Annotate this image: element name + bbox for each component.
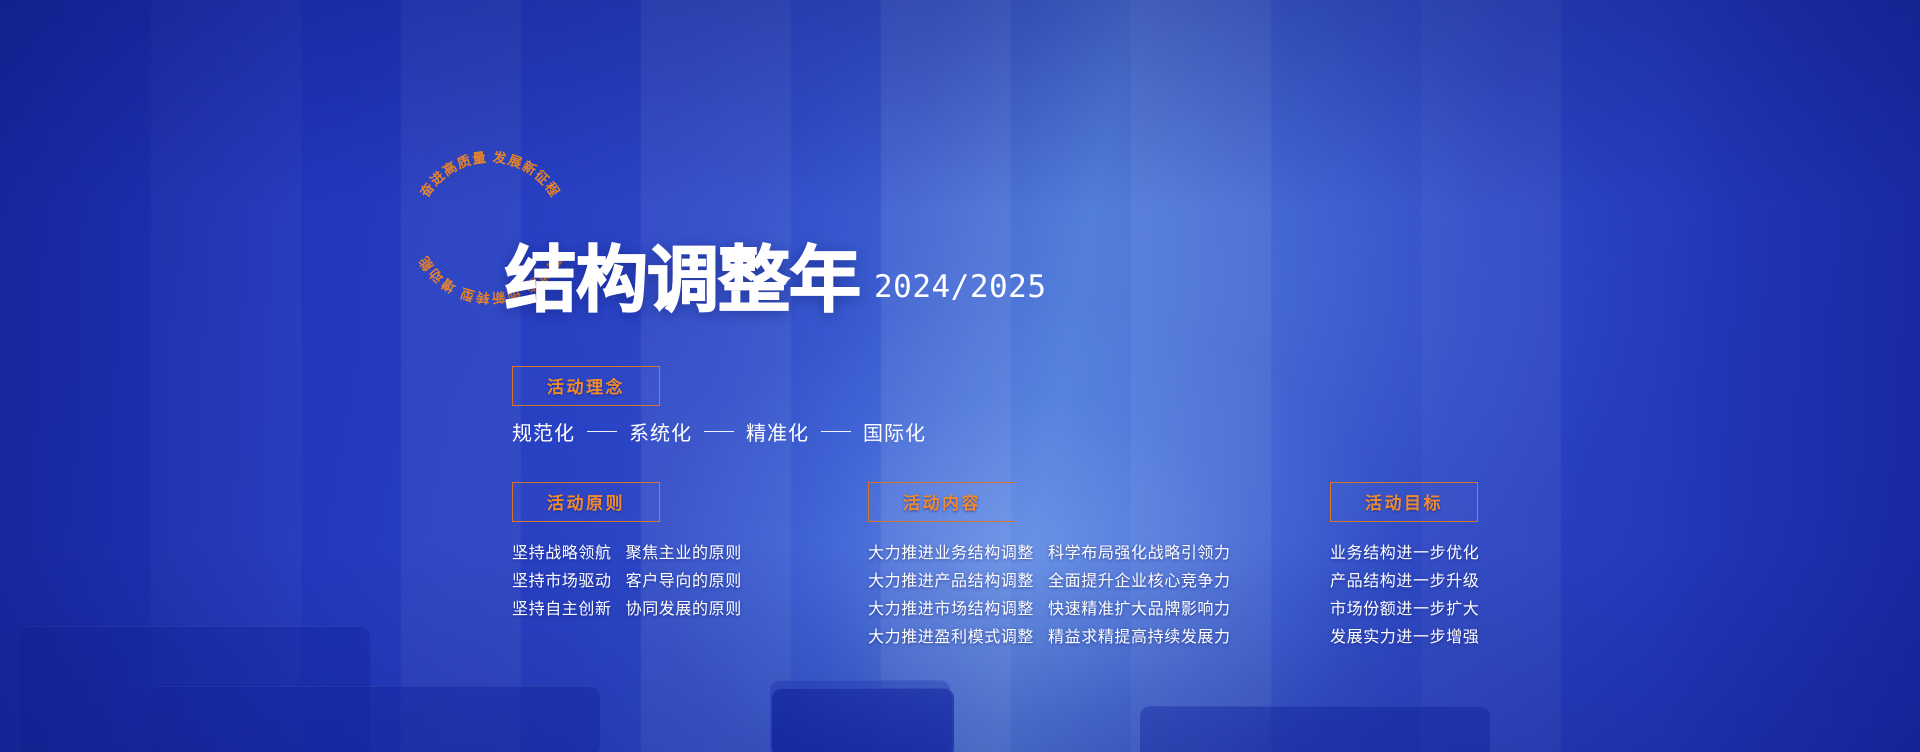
row-cell-left: 产品结构进一步升级: [1330, 568, 1479, 596]
row-cell-left: 发展实力进一步增强: [1330, 624, 1479, 652]
table-row: 坚持市场驱动 客户导向的原则: [512, 568, 742, 596]
row-cell-right: 客户导向的原则: [626, 568, 742, 596]
concept-separator-icon: [704, 431, 734, 433]
table-row: 大力推进市场结构调整 快速精准扩大品牌影响力: [868, 596, 1231, 624]
table-row: 业务结构进一步优化: [1330, 540, 1479, 568]
concept-item-4: 国际化: [863, 417, 926, 446]
ring-text-top: 奋进高质量 发展新征程: [416, 149, 563, 201]
promo-banner: 奋进高质量 发展新征程 赋动能 创新转型 增动能 结构调整年 2024/2025…: [0, 0, 1920, 752]
concept-item-1: 规范化: [512, 417, 575, 446]
page-title: 结构调整年: [505, 247, 860, 313]
concept-item-2: 系统化: [629, 417, 692, 446]
badge-activity-content[interactable]: 活动内容: [868, 482, 1016, 522]
column-activity-goal: 活动目标 业务结构进一步优化 产品结构进一步升级 市场份额进一步扩大 发展实力进…: [1330, 482, 1479, 652]
row-cell-left: 市场份额进一步扩大: [1330, 596, 1479, 624]
row-cell-left: 大力推进产品结构调整: [868, 568, 1034, 596]
row-cell-right: 精益求精提高持续发展力: [1048, 624, 1231, 652]
content-row-list: 大力推进业务结构调整 科学布局强化战略引领力 大力推进产品结构调整 全面提升企业…: [868, 540, 1231, 652]
row-cell-left: 坚持自主创新: [512, 596, 612, 624]
row-cell-right: 科学布局强化战略引领力: [1048, 540, 1231, 568]
table-row: 大力推进产品结构调整 全面提升企业核心竞争力: [868, 568, 1231, 596]
badge-activity-idea[interactable]: 活动理念: [512, 366, 660, 406]
concept-separator-icon: [587, 431, 617, 433]
table-row: 坚持自主创新 协同发展的原则: [512, 596, 742, 624]
table-row: 大力推进盈利模式调整 精益求精提高持续发展力: [868, 624, 1231, 652]
table-row: 发展实力进一步增强: [1330, 624, 1479, 652]
row-cell-left: 坚持市场驱动: [512, 568, 612, 596]
row-cell-left: 大力推进市场结构调整: [868, 596, 1034, 624]
concept-item-3: 精准化: [746, 417, 809, 446]
row-cell-left: 业务结构进一步优化: [1330, 540, 1479, 568]
goal-row-list: 业务结构进一步优化 产品结构进一步升级 市场份额进一步扩大 发展实力进一步增强: [1330, 540, 1479, 652]
row-cell-left: 大力推进盈利模式调整: [868, 624, 1034, 652]
table-row: 大力推进业务结构调整 科学布局强化战略引领力: [868, 540, 1231, 568]
year-range: 2024/2025: [874, 269, 1046, 313]
row-cell-right: 聚焦主业的原则: [626, 540, 742, 568]
row-cell-right: 快速精准扩大品牌影响力: [1048, 596, 1231, 624]
column-activity-content: 活动内容 大力推进业务结构调整 科学布局强化战略引领力 大力推进产品结构调整 全…: [868, 482, 1231, 652]
table-row: 产品结构进一步升级: [1330, 568, 1479, 596]
column-activity-principle: 活动原则 坚持战略领航 聚焦主业的原则 坚持市场驱动 客户导向的原则 坚持自主创…: [512, 482, 742, 624]
row-cell-left: 坚持战略领航: [512, 540, 612, 568]
principle-row-list: 坚持战略领航 聚焦主业的原则 坚持市场驱动 客户导向的原则 坚持自主创新 协同发…: [512, 540, 742, 624]
badge-activity-goal[interactable]: 活动目标: [1330, 482, 1478, 522]
table-row: 市场份额进一步扩大: [1330, 596, 1479, 624]
ring-text-top-path: 奋进高质量 发展新征程: [416, 149, 563, 201]
row-cell-left: 大力推进业务结构调整: [868, 540, 1034, 568]
title-block: 结构调整年 2024/2025: [505, 247, 1047, 313]
row-cell-right: 协同发展的原则: [626, 596, 742, 624]
row-cell-right: 全面提升企业核心竞争力: [1048, 568, 1231, 596]
table-row: 坚持战略领航 聚焦主业的原则: [512, 540, 742, 568]
concept-list: 规范化 系统化 精准化 国际化: [512, 417, 926, 446]
badge-activity-principle[interactable]: 活动原则: [512, 482, 660, 522]
concept-separator-icon: [821, 431, 851, 433]
